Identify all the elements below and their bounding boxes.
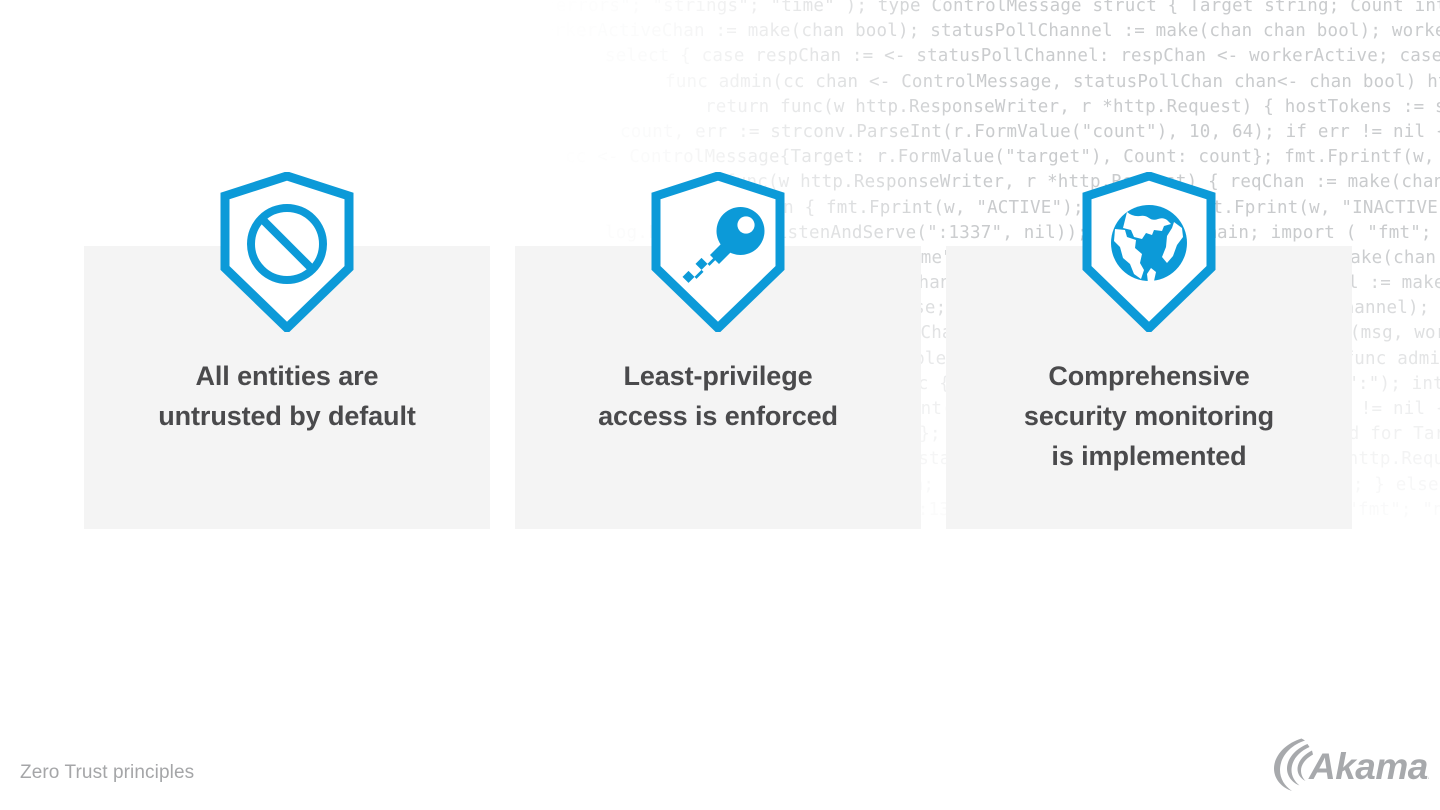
principle-card-3-line2: security monitoring [1024, 401, 1274, 431]
shield-globe-icon [1081, 172, 1217, 332]
principle-card-1-label: All entities are untrusted by default [84, 356, 490, 436]
akamai-wordmark: Akamai [1308, 746, 1429, 787]
principle-card-1-line2: untrusted by default [158, 401, 416, 431]
akamai-swoosh-icon [1274, 739, 1313, 792]
code-line: return func(w http.ResponseWriter, r *ht… [705, 95, 1440, 120]
principle-card-3-line1: Comprehensive [1048, 361, 1249, 391]
principle-card-1-line1: All entities are [196, 361, 379, 391]
principle-card-2-line1: Least-privilege [623, 361, 812, 391]
code-line: select { case respChan := <- statusPollC… [605, 44, 1440, 69]
code-line: "errors"; "strings"; "time" ); type Cont… [545, 0, 1440, 19]
akamai-logo: Akamai [1271, 734, 1429, 796]
code-line: workerActiveChan := make(chan bool); sta… [533, 19, 1440, 44]
key-hole [737, 216, 754, 233]
code-line: func admin(cc chan <- ControlMessage, st… [665, 70, 1440, 95]
shield-prohibited-icon [219, 172, 355, 332]
slide-root: "errors"; "strings"; "time" ); type Cont… [0, 0, 1440, 810]
code-line: cc <- ControlMessage{Target: r.FormValue… [565, 145, 1440, 170]
footer-caption: Zero Trust principles [20, 762, 194, 784]
principle-card-3-line3: is implemented [1051, 441, 1246, 471]
principle-card-2-label: Least-privilege access is enforced [515, 356, 921, 436]
shield-key-icon [650, 172, 786, 332]
shield-outline-1 [225, 176, 349, 328]
principle-card-2-line2: access is enforced [598, 401, 838, 431]
code-line: count, err := strconv.ParseInt(r.FormVal… [620, 120, 1440, 145]
principle-card-3-label: Comprehensive security monitoring is imp… [946, 356, 1352, 476]
